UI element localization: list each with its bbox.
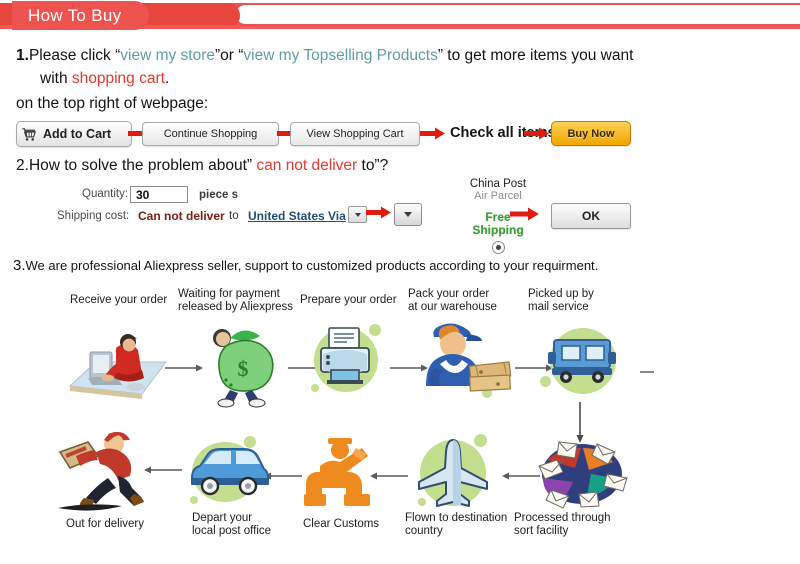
step1-text-e: .	[165, 70, 169, 87]
shopping-cart-icon	[21, 128, 38, 141]
flow-label-pack-order: Pack your order at our warehouse	[408, 288, 528, 314]
step1-number: 1.	[16, 47, 29, 64]
step2-highlight: can not deliver	[256, 157, 357, 174]
node-sort-facility	[535, 438, 629, 508]
carrier-name-line1: China Post	[450, 178, 546, 190]
step2-text-b: to”?	[357, 157, 388, 174]
continue-shopping-label: Continue Shopping	[164, 128, 258, 140]
step3-text: We are professional Aliexpress seller, s…	[26, 258, 599, 273]
flow-label-receive-order: Receive your order	[70, 294, 190, 307]
free-shipping-line2: Shipping	[450, 224, 546, 237]
step1-highlight-shopping-cart: shopping cart	[72, 70, 165, 87]
flow-label-clear-customs: Clear Customs	[303, 518, 413, 531]
flow-label-prepare-order: Prepare your order	[300, 294, 420, 307]
flow-label-depart-post-office: Depart your local post office	[192, 512, 312, 538]
money-bag-icon: $	[200, 322, 290, 408]
shipping-method-radio[interactable]	[492, 241, 505, 254]
continue-shopping-button[interactable]: Continue Shopping	[142, 122, 279, 146]
step2-number: 2.	[16, 157, 29, 174]
radio-dot-icon	[496, 245, 501, 250]
step1-text-d: with	[40, 70, 72, 87]
flow-dash-icon	[640, 362, 656, 380]
view-shopping-cart-label: View Shopping Cart	[306, 128, 403, 140]
shipping-cost-label: Shipping cost:	[57, 210, 129, 222]
delivery-van-icon	[182, 432, 272, 512]
arrow-3-icon	[420, 127, 446, 139]
shipping-method-dropdown[interactable]	[394, 203, 422, 226]
step3-number: 3.	[13, 257, 26, 274]
node-out-for-delivery	[56, 428, 156, 514]
link-view-my-store[interactable]: view my store	[120, 47, 215, 64]
carrier-name-line2: Air Parcel	[450, 190, 546, 202]
arrow-5-icon	[366, 206, 392, 218]
shipping-to-label: to	[229, 210, 239, 222]
add-to-cart-button[interactable]: Add to Cart	[16, 121, 132, 147]
node-clear-customs	[300, 438, 376, 510]
step1-text-b: ”or “	[215, 47, 243, 64]
flow-label-waiting-payment: Waiting for payment released by Aliexpre…	[178, 288, 308, 314]
flow-label-sort-facility: Processed through sort facility	[514, 512, 634, 538]
flow-label-flown-to-destination: Flown to destination country	[405, 512, 525, 538]
quantity-label: Quantity:	[82, 188, 128, 200]
view-shopping-cart-button[interactable]: View Shopping Cart	[290, 122, 420, 146]
step1-line: 1.Please click “view my store”or “view m…	[16, 47, 633, 65]
svg-text:$: $	[238, 356, 249, 381]
warehouse-worker-icon	[420, 318, 516, 404]
node-pack-order	[420, 318, 516, 404]
node-flown-to-destination	[408, 432, 498, 512]
arrow-4-icon	[524, 127, 550, 139]
shipping-status: Can not deliver	[138, 209, 225, 223]
step1-line2: with shopping cart.	[40, 70, 169, 88]
country-dropdown-small[interactable]	[348, 206, 367, 223]
flow-arrow-5-icon	[500, 468, 540, 486]
printer-icon	[305, 318, 389, 404]
mail-truck-icon	[540, 318, 630, 404]
add-to-cart-label: Add to Cart	[43, 127, 111, 141]
node-depart-post-office	[182, 432, 272, 512]
buy-now-button[interactable]: Buy Now	[551, 121, 631, 146]
node-prepare-order	[305, 318, 389, 404]
link-view-my-topselling-products[interactable]: view my Topselling Products	[243, 47, 437, 64]
ok-label: OK	[582, 209, 600, 223]
flow-arrow-1-icon	[165, 360, 205, 378]
how-to-buy-page: How To Buy 1.Please click “view my store…	[0, 0, 800, 564]
page-title: How To Buy	[14, 3, 147, 28]
arrow-6-icon	[510, 207, 540, 219]
shipping-country-link[interactable]: United States Via	[248, 209, 346, 223]
customs-officer-icon	[300, 438, 376, 510]
flow-label-out-for-delivery: Out for delivery	[66, 518, 186, 531]
flow-label-picked-up: Picked up by mail service	[528, 288, 638, 314]
mail-sorting-icon	[535, 438, 629, 508]
buy-now-label: Buy Now	[567, 128, 614, 140]
step3-line: 3.We are professional Aliexpress seller,…	[13, 257, 598, 274]
step1-text-c: ” to get more items you want	[438, 47, 634, 64]
person-at-computer-icon	[62, 330, 172, 405]
node-picked-up	[540, 318, 630, 404]
step1-text-a: Please click “	[29, 47, 120, 64]
running-courier-icon	[56, 428, 156, 514]
step2-line: 2.How to solve the problem about” can no…	[16, 157, 388, 175]
piece-label: piece s	[199, 189, 238, 201]
chevron-down-icon	[355, 213, 361, 217]
ok-button[interactable]: OK	[551, 203, 631, 229]
airplane-icon	[408, 432, 498, 512]
quantity-input[interactable]: 30	[130, 186, 188, 203]
node-waiting-payment: $	[200, 322, 290, 408]
step1-subtitle: on the top right of webpage:	[16, 95, 208, 113]
chevron-down-icon	[404, 212, 412, 217]
node-receive-order	[62, 330, 172, 405]
step2-text-a: How to solve the problem about”	[29, 157, 256, 174]
banner-white-cut	[236, 5, 800, 24]
